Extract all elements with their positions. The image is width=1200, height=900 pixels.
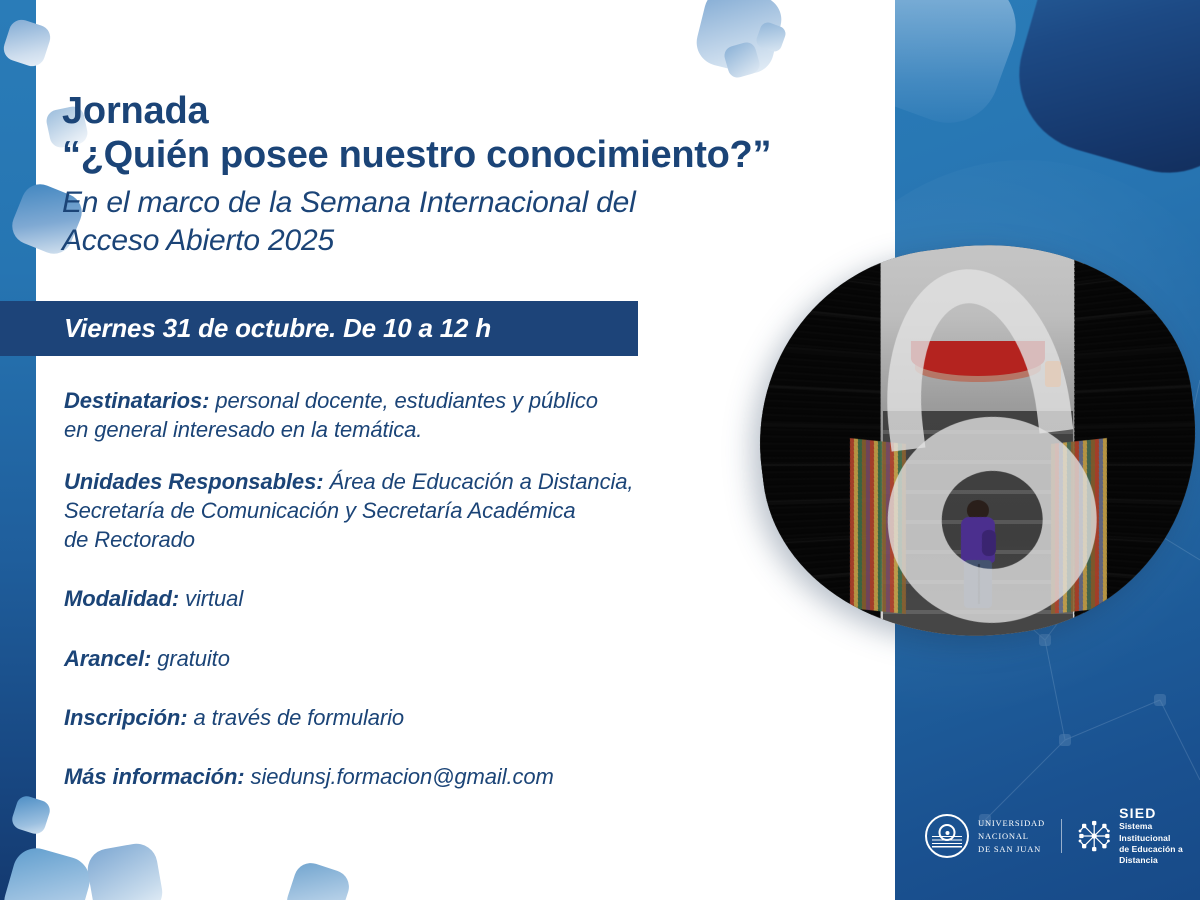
detail-unidades-responsables: Unidades Responsables: Área de Educación… bbox=[64, 467, 834, 555]
photo-squircle-mask bbox=[738, 221, 1200, 661]
detail-mas-informacion: Más información: siedunsj.formacion@gmai… bbox=[64, 762, 834, 791]
unsj-line2: NACIONAL bbox=[978, 830, 1045, 843]
photo-scene bbox=[738, 221, 1200, 661]
detail-label: Más información: bbox=[64, 764, 245, 789]
detail-label: Modalidad: bbox=[64, 586, 179, 611]
sied-acronym: SIED bbox=[1119, 806, 1200, 821]
colored-books-left bbox=[850, 438, 906, 614]
sied-logo-text: SIED Sistema Institucional de Educación … bbox=[1119, 806, 1200, 866]
detail-line: Modalidad: virtual bbox=[64, 584, 834, 613]
sied-logo: SIED Sistema Institucional de Educación … bbox=[1078, 806, 1200, 866]
detail-inscripcion: Inscripción: a través de formulario bbox=[64, 703, 834, 732]
person-bag bbox=[982, 531, 996, 557]
detail-value: virtual bbox=[179, 586, 243, 611]
detail-label: Arancel: bbox=[64, 646, 151, 671]
page-subtitle-line2: Acceso Abierto 2025 bbox=[62, 222, 862, 260]
detail-line: Unidades Responsables: Área de Educación… bbox=[64, 467, 834, 496]
title-block: Jornada “¿Quién posee nuestro conocimien… bbox=[62, 92, 862, 260]
detail-value: personal docente, estudiantes y público bbox=[209, 388, 598, 413]
contact-email: siedunsj.formacion@gmail.com bbox=[245, 764, 554, 789]
library-photo bbox=[760, 246, 1196, 636]
date-banner-text: Viernes 31 de octubre. De 10 a 12 h bbox=[64, 313, 491, 344]
unsj-line1: UNIVERSIDAD bbox=[978, 817, 1045, 830]
waves-icon bbox=[932, 836, 962, 849]
page-subtitle-line1: En el marco de la Semana Internacional d… bbox=[62, 184, 862, 222]
person-legs bbox=[964, 561, 992, 609]
red-awning bbox=[911, 341, 1045, 376]
detail-value: Área de Educación a Distancia, bbox=[323, 469, 633, 494]
detail-arancel: Arancel: gratuito bbox=[64, 644, 834, 673]
detail-value-cont: en general interesado en la temática. bbox=[64, 415, 834, 444]
detail-label: Inscripción: bbox=[64, 705, 188, 730]
detail-line: Destinatarios: personal docente, estudia… bbox=[64, 386, 834, 415]
poster-canvas: Jornada “¿Quién posee nuestro conocimien… bbox=[0, 0, 1200, 900]
detail-label: Destinatarios: bbox=[64, 388, 209, 413]
detail-value-cont-2: de Rectorado bbox=[64, 525, 834, 554]
detail-modalidad: Modalidad: virtual bbox=[64, 584, 834, 613]
unsj-logo-text: UNIVERSIDAD NACIONAL DE SAN JUAN bbox=[978, 817, 1045, 855]
detail-line: Más información: siedunsj.formacion@gmai… bbox=[64, 762, 834, 791]
sied-line1: Sistema Institucional bbox=[1119, 821, 1200, 843]
unsj-circle-sun-waves-icon bbox=[925, 814, 969, 858]
sied-line2: de Educación a Distancia bbox=[1119, 844, 1200, 866]
sied-network-node-icon bbox=[1078, 815, 1110, 857]
detail-label: Unidades Responsables: bbox=[64, 469, 323, 494]
person-figure bbox=[958, 501, 998, 611]
orange-accent bbox=[1045, 361, 1061, 387]
detail-line: Arancel: gratuito bbox=[64, 644, 834, 673]
logo-divider bbox=[1061, 819, 1062, 853]
date-banner: Viernes 31 de octubre. De 10 a 12 h bbox=[0, 301, 638, 356]
detail-destinatarios: Destinatarios: personal docente, estudia… bbox=[64, 386, 834, 445]
colored-books-right bbox=[1051, 438, 1107, 614]
detail-value: a través de formulario bbox=[188, 705, 405, 730]
unsj-line3: DE SAN JUAN bbox=[978, 843, 1045, 856]
details-list: Destinatarios: personal docente, estudia… bbox=[64, 386, 834, 813]
page-title-line1: Jornada bbox=[62, 92, 862, 131]
logo-bar: UNIVERSIDAD NACIONAL DE SAN JUAN bbox=[925, 806, 1200, 866]
detail-value-cont: Secretaría de Comunicación y Secretaría … bbox=[64, 496, 834, 525]
detail-value: gratuito bbox=[151, 646, 230, 671]
page-title-line2: “¿Quién posee nuestro conocimiento?” bbox=[62, 133, 862, 178]
unsj-logo: UNIVERSIDAD NACIONAL DE SAN JUAN bbox=[925, 814, 1045, 858]
detail-line: Inscripción: a través de formulario bbox=[64, 703, 834, 732]
